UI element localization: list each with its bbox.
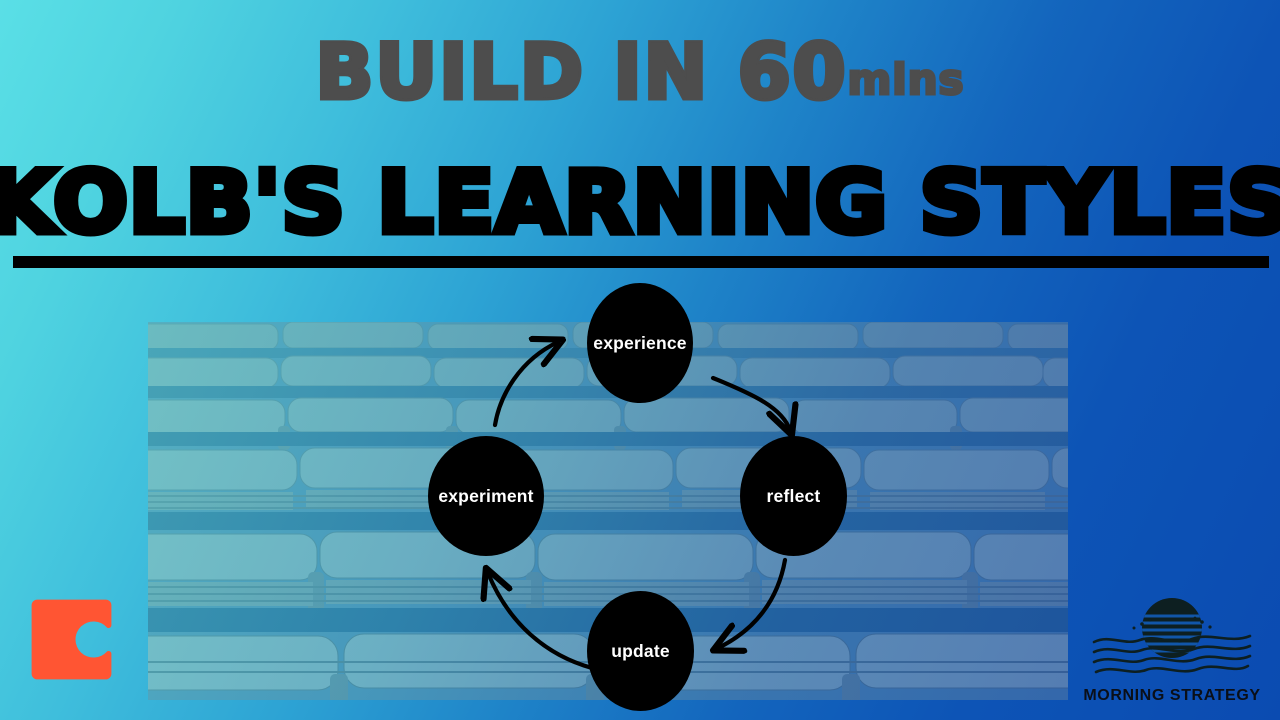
cycle-node-experiment-label: experiment — [438, 486, 533, 507]
cycle-node-update-label: update — [611, 641, 670, 662]
cycle-node-experience-label: experience — [593, 333, 686, 354]
cycle-node-reflect[interactable]: reflect — [740, 436, 847, 556]
morning-strategy-name: MORNING STRATEGY — [1083, 687, 1260, 704]
coda-logo-icon[interactable] — [24, 592, 119, 687]
page-title: KOLB'S LEARNING STYLES — [0, 160, 1280, 246]
kicker-sub-text: mins — [847, 55, 964, 104]
cycle-node-experiment[interactable]: experiment — [428, 436, 544, 556]
kicker-title: BUILD IN 60mins — [0, 34, 1280, 110]
title-underline-rule — [13, 256, 1269, 268]
cycle-node-experience[interactable]: experience — [587, 283, 693, 403]
cycle-node-update[interactable]: update — [587, 591, 694, 711]
page-title-container: KOLB'S LEARNING STYLES — [0, 160, 1280, 246]
kicker-main-text: BUILD IN 60 — [315, 27, 847, 116]
morning-strategy-logo[interactable]: MORNING STRATEGY — [1082, 584, 1262, 712]
cycle-node-reflect-label: reflect — [767, 486, 821, 507]
